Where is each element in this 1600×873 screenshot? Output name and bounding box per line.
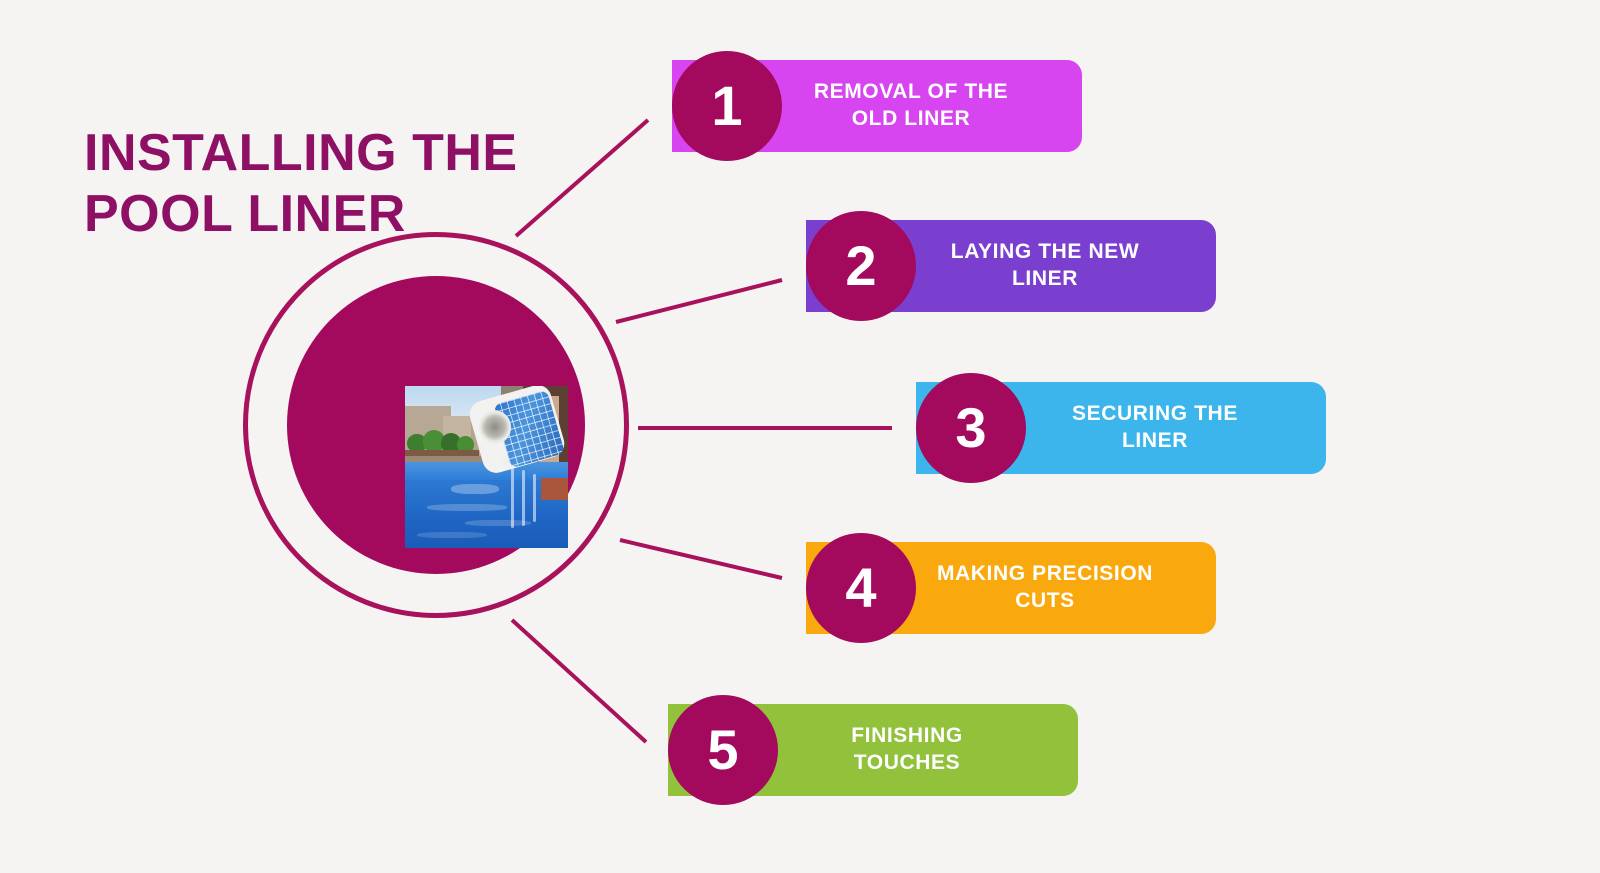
photo-water-streak-1 [451, 484, 499, 494]
step-badge-3[interactable]: 3 [916, 373, 1026, 483]
photo-water-reflection-3 [533, 474, 536, 522]
step-label-1: REMOVAL OF THE OLD LINER [814, 79, 1008, 133]
connector-step-5 [512, 620, 646, 742]
step-badge-4[interactable]: 4 [806, 533, 916, 643]
page-title-line-2: POOL LINER [84, 184, 604, 245]
page-title-line-1: INSTALLING THE [84, 123, 604, 184]
connector-step-2 [616, 280, 782, 322]
step-item-5[interactable]: FINISHING TOUCHES 5 [668, 704, 1078, 796]
step-badge-2[interactable]: 2 [806, 211, 916, 321]
connector-step-4 [620, 540, 782, 578]
step-label-2: LAYING THE NEW LINER [951, 239, 1139, 293]
step-label-4: MAKING PRECISION CUTS [937, 561, 1153, 615]
photo-water-reflection-1 [511, 466, 514, 528]
step-number-5: 5 [707, 722, 738, 778]
step-item-2[interactable]: LAYING THE NEW LINER 2 [806, 220, 1216, 312]
photo-pool-deck [541, 478, 568, 500]
step-number-4: 4 [845, 560, 876, 616]
step-number-1: 1 [711, 78, 742, 134]
page-title: INSTALLING THE POOL LINER [84, 123, 604, 246]
step-label-3: SECURING THE LINER [1072, 401, 1238, 455]
step-number-3: 3 [955, 400, 986, 456]
step-item-3[interactable]: SECURING THE LINER 3 [916, 382, 1326, 474]
step-item-4[interactable]: MAKING PRECISION CUTS 4 [806, 542, 1216, 634]
step-badge-1[interactable]: 1 [672, 51, 782, 161]
photo-water-streak-4 [417, 532, 487, 538]
infographic-canvas: INSTALLING THE POOL LINER [0, 0, 1600, 873]
hub-inner-disc [287, 276, 585, 574]
step-badge-5[interactable]: 5 [668, 695, 778, 805]
step-number-2: 2 [845, 238, 876, 294]
photo-water-reflection-2 [522, 470, 525, 526]
pool-liner-photo [405, 386, 568, 548]
step-item-1[interactable]: REMOVAL OF THE OLD LINER 1 [672, 60, 1082, 152]
center-hub [243, 232, 639, 618]
step-label-5: FINISHING TOUCHES [851, 723, 963, 777]
photo-water-streak-2 [427, 504, 507, 511]
